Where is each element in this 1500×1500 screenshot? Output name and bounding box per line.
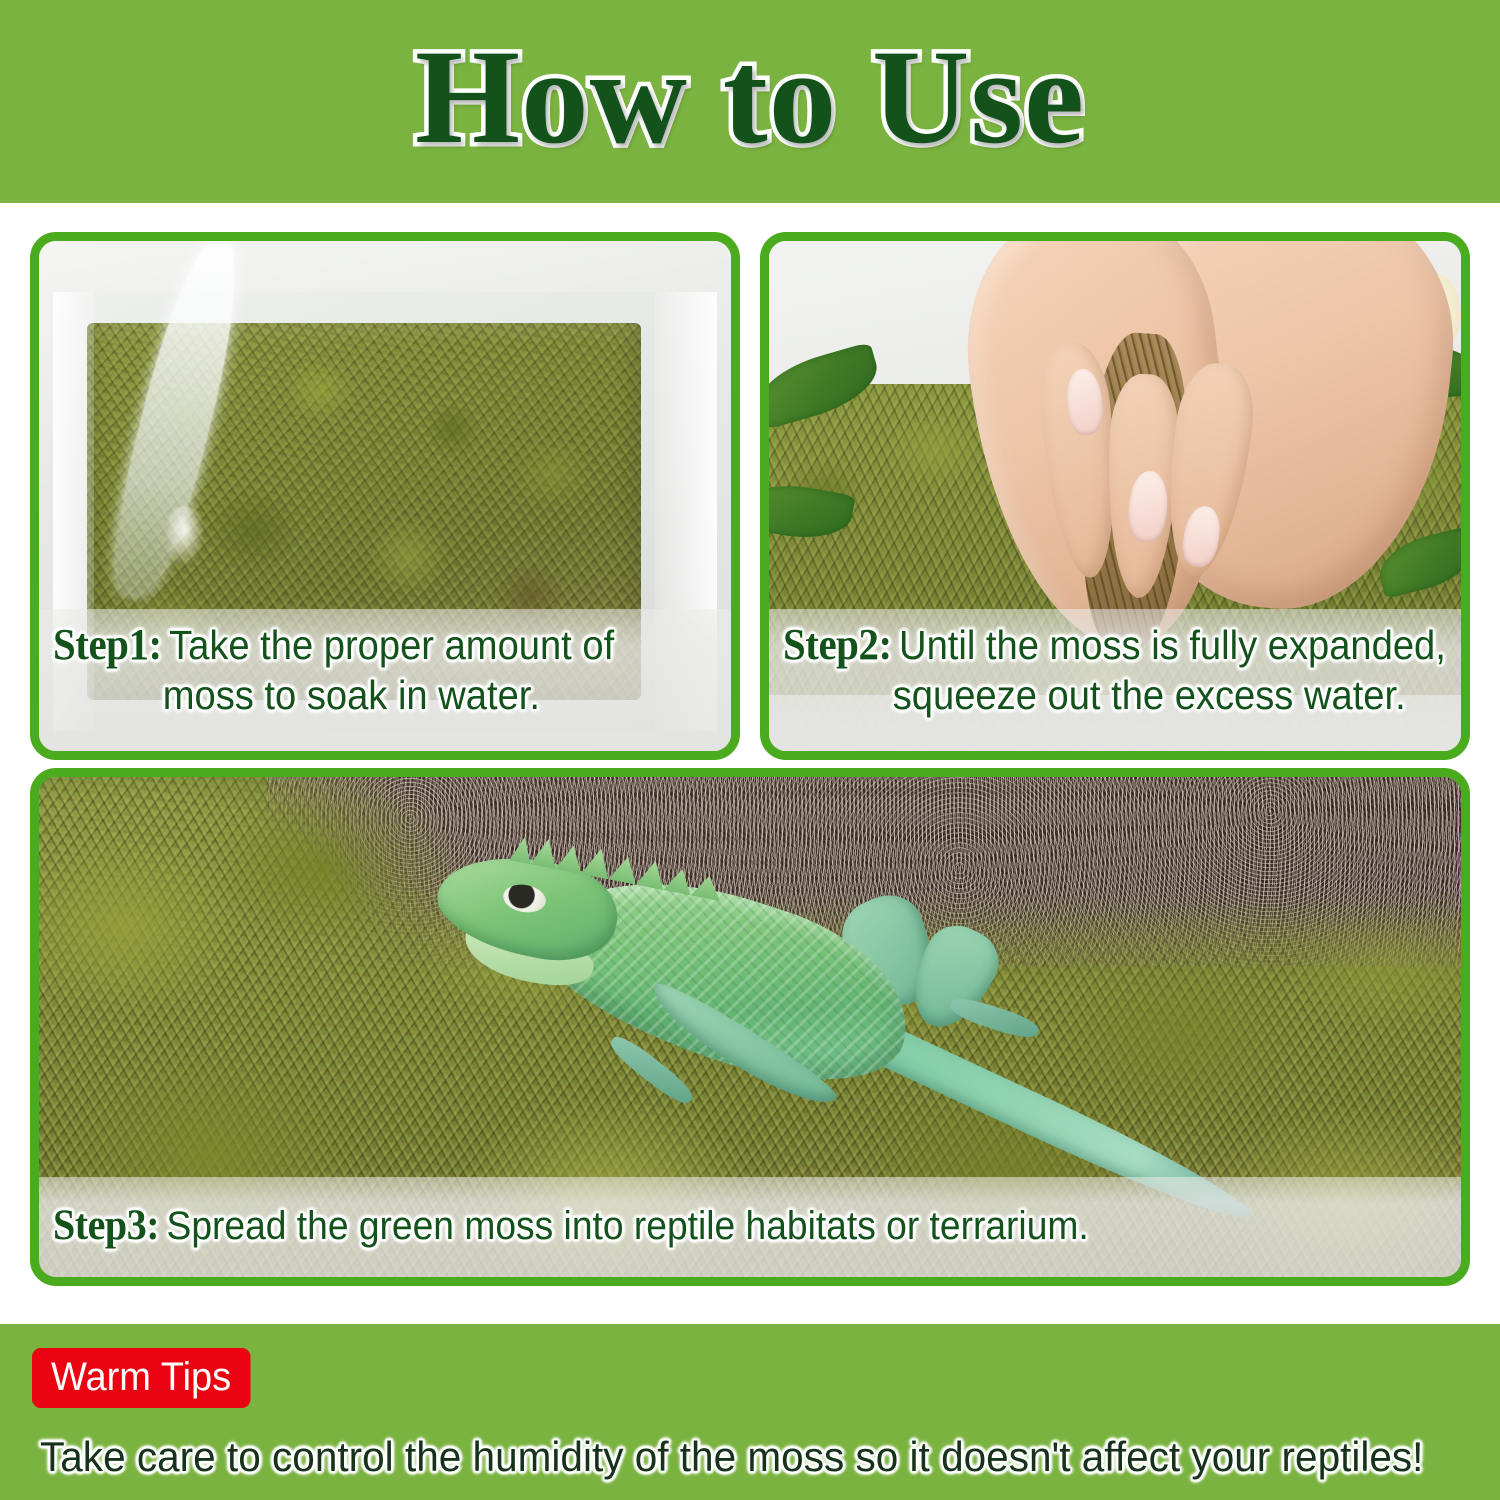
step-card-1: Step1:Take the proper amount of moss to … <box>30 232 740 760</box>
step2-label: Step2: <box>783 620 892 669</box>
footer-banner: Warm Tips Take care to control the humid… <box>0 1324 1500 1500</box>
step1-text-line1: Take the proper amount of <box>169 622 614 668</box>
step1-label: Step1: <box>53 620 162 669</box>
step3-text-line1: Spread the green moss into reptile habit… <box>167 1204 1089 1248</box>
step1-caption: Step1:Take the proper amount of moss to … <box>39 609 731 751</box>
step2-text-line1: Until the moss is fully expanded, <box>899 622 1446 668</box>
header-banner: How to Use <box>0 0 1500 203</box>
step3-caption: Step3:Spread the green moss into reptile… <box>39 1177 1461 1277</box>
warm-tip-text: Take care to control the humidity of the… <box>40 1436 1420 1478</box>
step1-text-line2: moss to soak in water. <box>53 671 671 719</box>
warm-tips-badge: Warm Tips <box>32 1348 250 1408</box>
step3-caption-line1: Step3:Spread the green moss into reptile… <box>53 1201 1089 1252</box>
step-card-3: Step3:Spread the green moss into reptile… <box>30 768 1470 1286</box>
step-card-2: Step2:Until the moss is fully expanded, … <box>760 232 1470 760</box>
step2-text-line2: squeeze out the excess water. <box>783 671 1401 719</box>
step2-caption-line1: Step2:Until the moss is fully expanded, <box>783 619 1401 671</box>
step1-caption-line1: Step1:Take the proper amount of <box>53 619 671 671</box>
page-title: How to Use <box>415 30 1085 165</box>
lizard <box>437 837 1262 1207</box>
water-splash <box>164 506 206 567</box>
step2-caption: Step2:Until the moss is fully expanded, … <box>769 609 1461 751</box>
infographic-page: How to Use Step1:Take the proper amount … <box>0 0 1500 1500</box>
step3-label: Step3: <box>53 1202 159 1249</box>
